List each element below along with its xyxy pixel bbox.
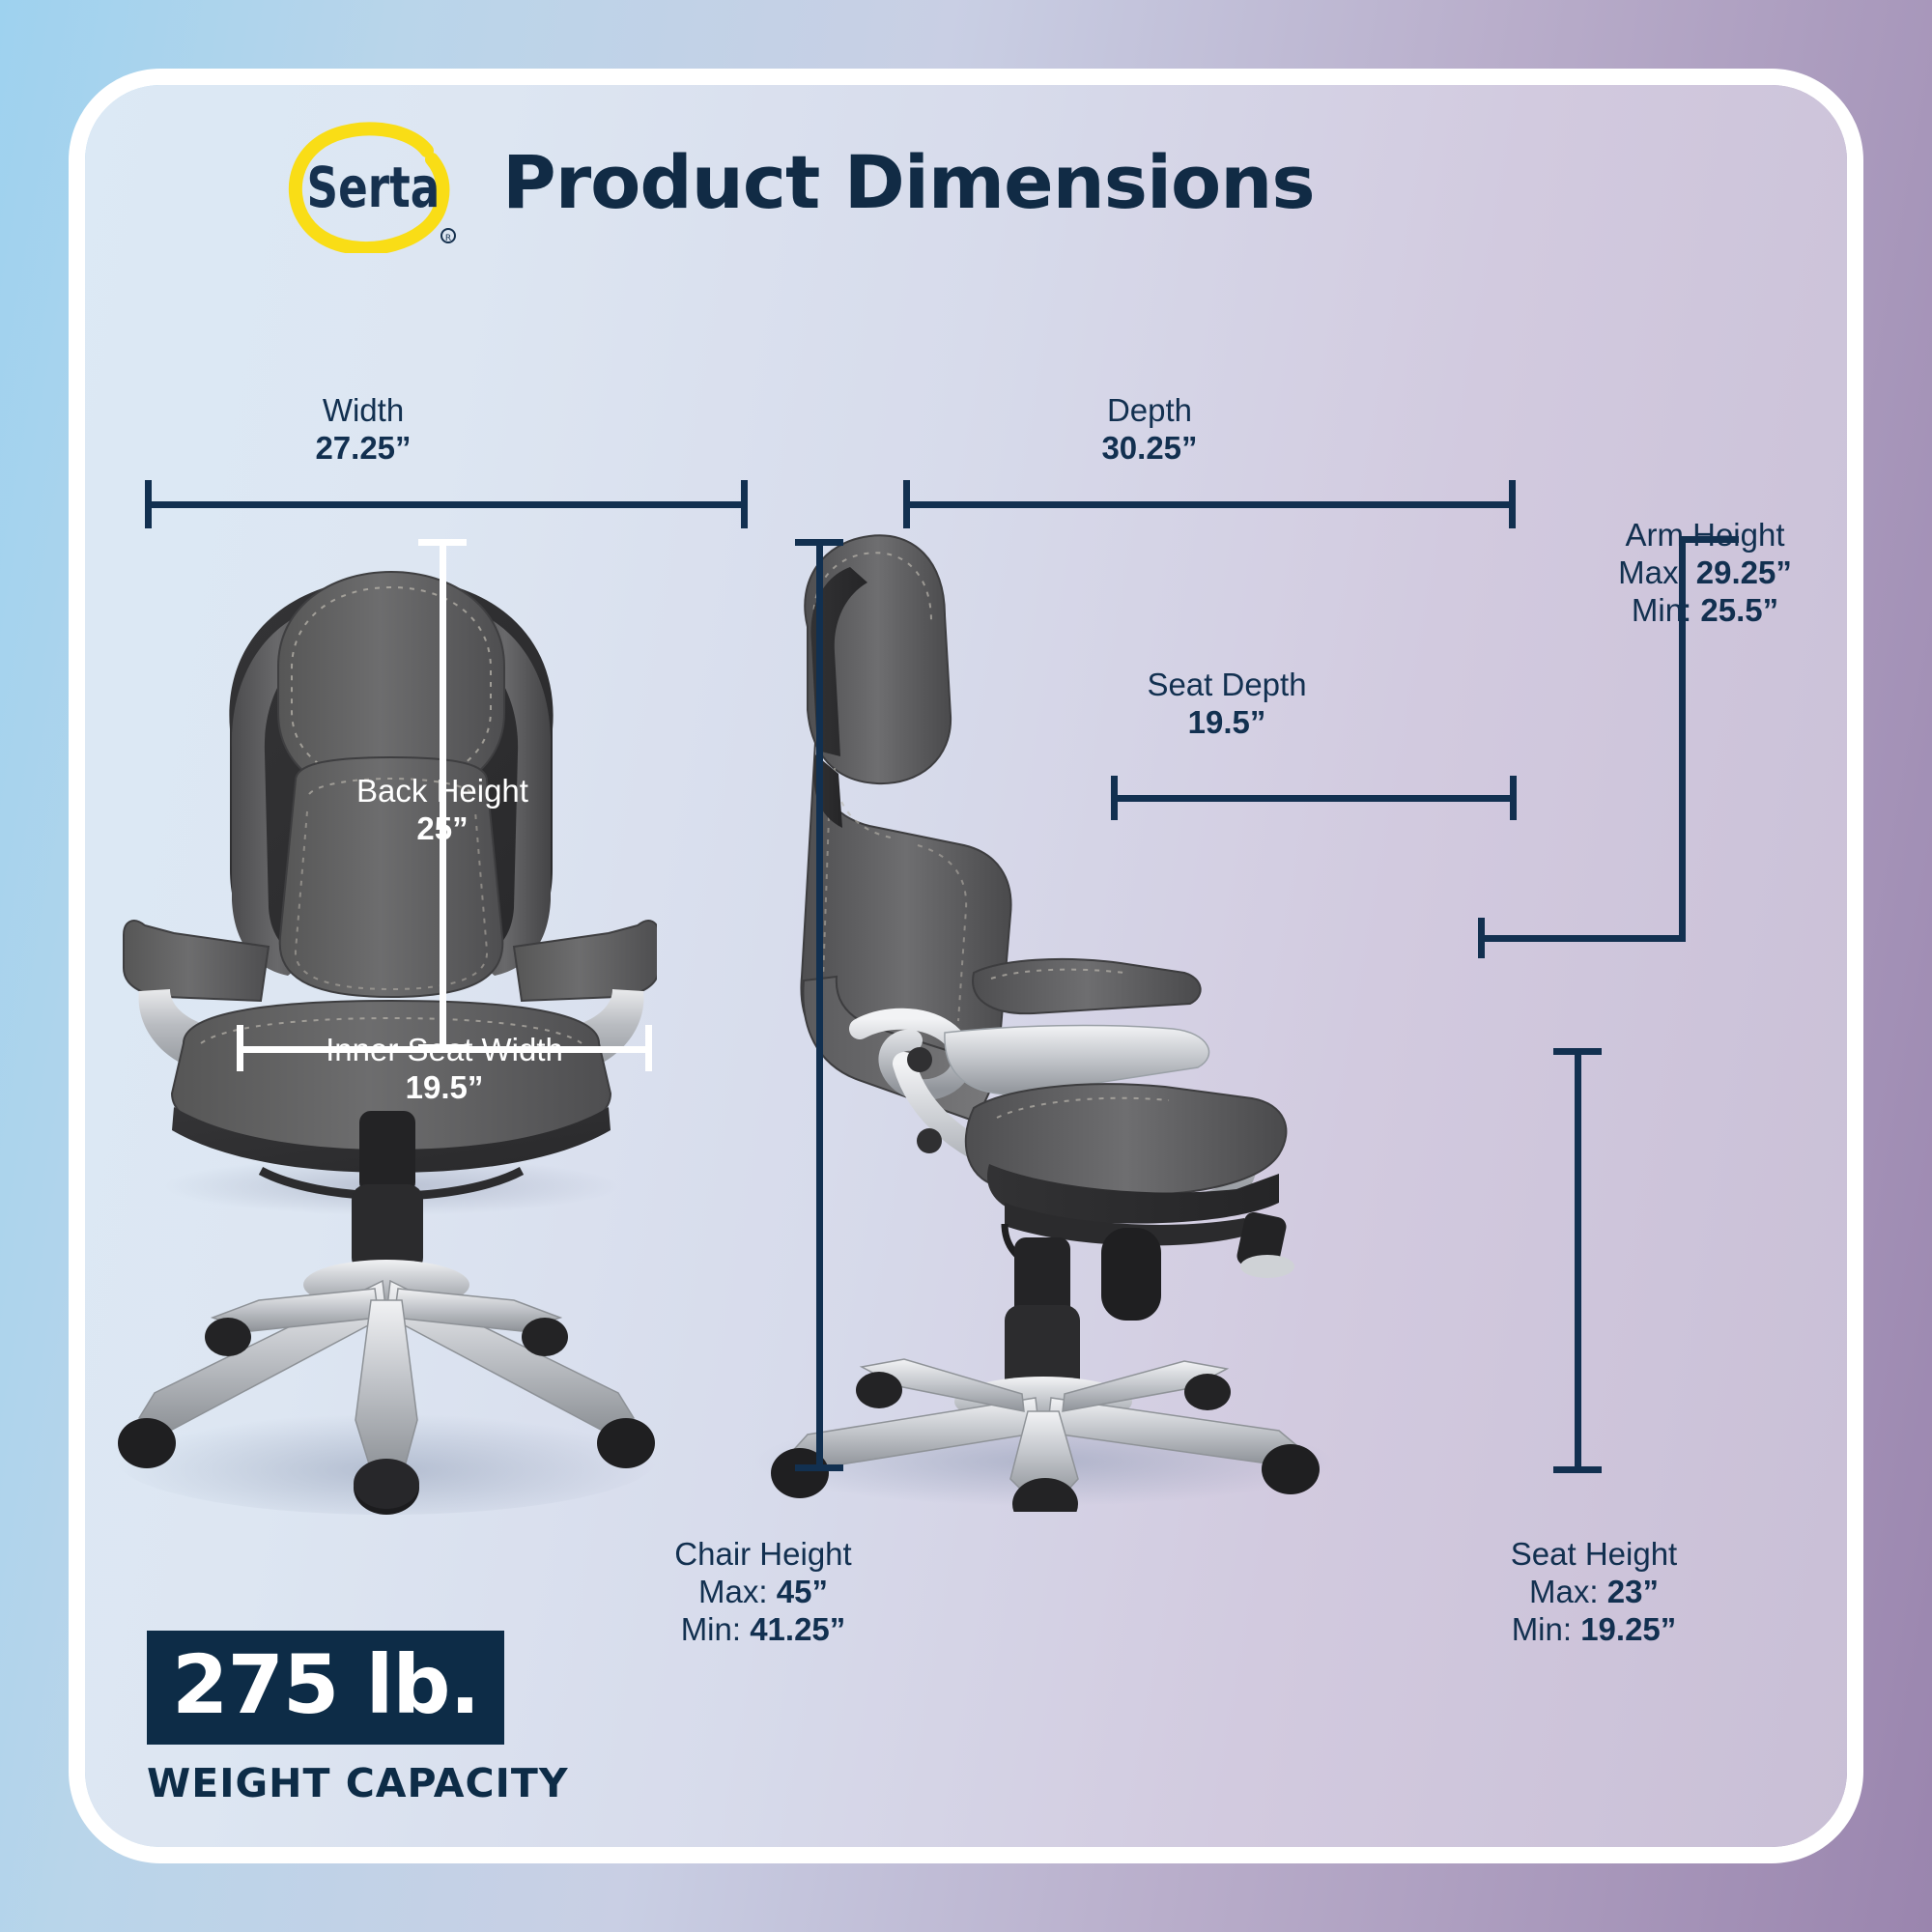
arm-height-max-label: Max: [1618,554,1688,590]
dimension-inner-seat-width: Inner Seat Width 19.5” [222,1032,667,1107]
width-rule-cap-left [145,480,152,528]
chair-height-max-row: Max: 45” [560,1574,966,1611]
width-value: 27.25” [228,430,498,468]
arm-height-leader [1478,935,1683,942]
dimension-chair-height: Chair Height Max: 45” Min: 41.25” [560,1536,966,1649]
weight-capacity-value: 275 lb. [172,1637,479,1732]
seat-height-label: Seat Height [1391,1536,1797,1574]
width-rule-cap-right [741,480,748,528]
seat-depth-cap-right [1510,776,1517,820]
back-height-cap-top [418,539,467,546]
depth-value: 30.25” [1014,430,1285,468]
arm-height-max-value: 29.25” [1696,554,1792,590]
chair-height-cap-bottom [795,1464,843,1471]
page-title: Product Dimensions [502,139,1315,225]
arm-height-min-row: Min: 25.5” [1546,592,1864,630]
chair-height-cap-top [795,539,843,546]
back-height-value: 25” [269,810,616,848]
weight-capacity-caption: WEIGHT CAPACITY [147,1760,569,1806]
width-rule [145,501,748,508]
seat-height-min-label: Min: [1512,1611,1572,1647]
chair-height-min-label: Min: [681,1611,741,1647]
arm-height-min-value: 25.5” [1700,592,1778,628]
serta-wordmark: Serta [307,156,440,221]
arm-height-label: Arm Height [1546,517,1864,554]
chair-height-max-value: 45” [777,1574,828,1609]
seat-depth-cap-left [1111,776,1118,820]
depth-rule-cap-right [1509,480,1516,528]
seat-depth-rule [1111,795,1517,802]
seat-depth-value: 19.5” [1082,704,1372,742]
dimension-back-height: Back Height 25” [269,773,616,848]
weight-capacity-badge: 275 lb. WEIGHT CAPACITY [147,1631,569,1806]
depth-rule [903,501,1516,508]
inner-seat-width-value: 19.5” [222,1069,667,1107]
arm-height-min-label: Min: [1632,592,1691,628]
seat-depth-label: Seat Depth [1082,667,1372,704]
depth-rule-cap-left [903,480,910,528]
dimension-depth: Depth 30.25” [1014,392,1285,468]
width-label: Width [228,392,498,430]
chair-height-rule [816,539,823,1471]
seat-height-max-row: Max: 23” [1391,1574,1797,1611]
seat-height-cap-top [1553,1048,1602,1055]
back-height-label: Back Height [269,773,616,810]
depth-label: Depth [1014,392,1285,430]
infographic-canvas: Serta R Product Dimensions [0,0,1932,1932]
seat-height-cap-bottom [1553,1466,1602,1473]
chair-front-base [97,1111,676,1526]
seat-height-min-value: 19.25” [1580,1611,1676,1647]
chair-height-min-value: 41.25” [750,1611,845,1647]
arm-height-leader-cap [1478,918,1485,958]
weight-capacity-box: 275 lb. [147,1631,504,1745]
seat-height-max-value: 23” [1607,1574,1659,1609]
dimension-seat-depth: Seat Depth 19.5” [1082,667,1372,742]
seat-height-rule [1575,1048,1581,1473]
chair-height-min-row: Min: 41.25” [560,1611,966,1649]
svg-text:R: R [445,234,451,243]
inner-seat-width-label: Inner Seat Width [222,1032,667,1069]
chair-height-max-label: Max: [698,1574,768,1609]
seat-height-min-row: Min: 19.25” [1391,1611,1797,1649]
seat-height-max-label: Max: [1529,1574,1599,1609]
serta-logo: Serta R [282,118,466,253]
dimension-arm-height: Arm Height Max: 29.25” Min: 25.5” [1546,517,1864,630]
chair-height-label: Chair Height [560,1536,966,1574]
dimension-seat-height: Seat Height Max: 23” Min: 19.25” [1391,1536,1797,1649]
arm-height-max-row: Max: 29.25” [1546,554,1864,592]
dimension-width: Width 27.25” [228,392,498,468]
